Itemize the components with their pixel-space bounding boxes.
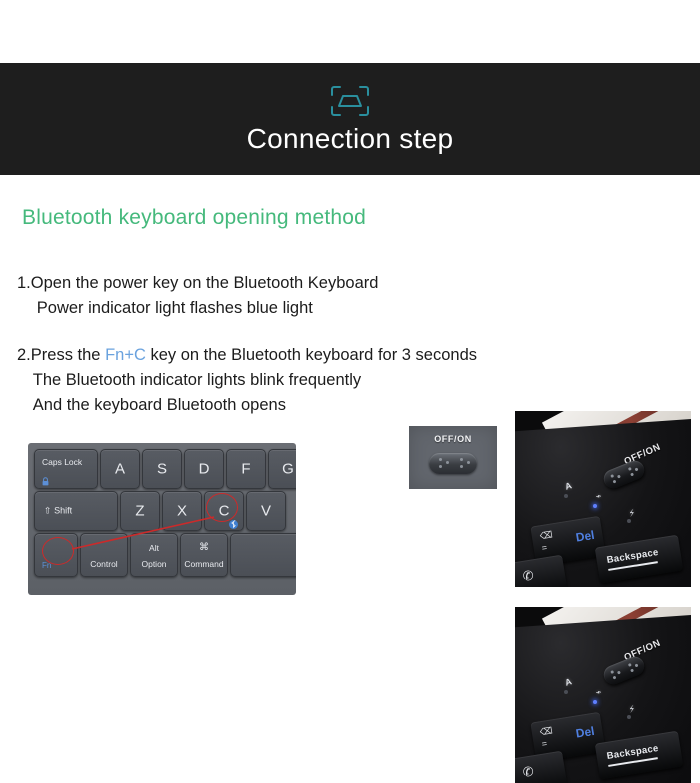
section-heading: Bluetooth keyboard opening method xyxy=(22,206,366,230)
keyboard-diagram: Caps Lock A S D F G ⇧ Shift xyxy=(28,443,296,595)
diagram-key-control: Control xyxy=(80,533,128,577)
key-label-command: Command xyxy=(184,559,223,569)
key-label-v: V xyxy=(261,503,271,520)
diagram-key-a: A xyxy=(100,449,140,489)
key-label-caps-lock: Caps Lock xyxy=(42,457,82,467)
diagram-key-x: X xyxy=(162,491,202,531)
diagram-key-v: V xyxy=(246,491,286,531)
key-label-d: D xyxy=(199,461,210,478)
key-label-a: A xyxy=(115,461,125,478)
diagram-key-space xyxy=(230,533,296,577)
diagram-key-g: G xyxy=(268,449,296,489)
header-band: Connection step xyxy=(0,63,700,175)
key-label-fn: Fn xyxy=(42,561,51,570)
step-item-2: 2. Press the Fn+C key on the Bluetooth k… xyxy=(17,343,537,418)
step-text: Press the Fn+C key on the Bluetooth keyb… xyxy=(31,343,477,418)
step-line-prefix: Press the xyxy=(31,346,105,364)
lock-icon xyxy=(42,473,49,482)
key-label-alt: Alt xyxy=(149,543,159,553)
step-text: Open the power key on the Bluetooth Keyb… xyxy=(31,271,379,321)
bluetooth-icon xyxy=(229,516,238,525)
offon-label: OFF/ON xyxy=(434,434,472,444)
diagram-key-caps-lock: Caps Lock xyxy=(34,449,98,489)
diagram-key-f: F xyxy=(226,449,266,489)
key-label-del: Del xyxy=(575,724,596,741)
diagram-key-s: S xyxy=(142,449,182,489)
step-line: Open the power key on the Bluetooth Keyb… xyxy=(31,271,379,296)
caps-indicator-led xyxy=(564,494,568,498)
steps-list: 1. Open the power key on the Bluetooth K… xyxy=(17,271,537,418)
key-label-z: Z xyxy=(135,503,144,520)
command-symbol-icon: ⌘ xyxy=(199,542,209,553)
step-line-combo: Press the Fn+C key on the Bluetooth keyb… xyxy=(31,343,477,368)
key-label-s: S xyxy=(157,461,167,478)
key-combo-label: Fn+C xyxy=(105,346,146,364)
product-info-page: Connection step Bluetooth keyboard openi… xyxy=(0,0,700,700)
keyboard-photo-top: OFF/ON A ⌁ ⚡ Del ⌫ = Backspace ✆ xyxy=(515,411,691,587)
keyboard-bracket-icon xyxy=(329,84,371,118)
diagram-key-shift: ⇧ Shift xyxy=(34,491,118,531)
step-item-1: 1. Open the power key on the Bluetooth K… xyxy=(17,271,537,321)
key-label-del: Del xyxy=(575,528,596,545)
key-label-c: C xyxy=(219,503,230,520)
key-label-f: F xyxy=(241,461,250,478)
offon-switch-inset: OFF/ON xyxy=(409,426,497,489)
content-area: Bluetooth keyboard opening method 1. Ope… xyxy=(0,175,700,700)
page-title: Connection step xyxy=(247,124,454,155)
diagram-key-d: D xyxy=(184,449,224,489)
diagram-key-fn: Fn xyxy=(34,533,78,577)
key-label-control: Control xyxy=(90,559,117,569)
keyboard-photo-bottom: OFF/ON A ⌁ ⚡ Del ⌫ = Backspace ✆ xyxy=(515,607,691,783)
diagram-key-alt-option: Alt Option xyxy=(130,533,178,577)
key-label-shift: ⇧ Shift xyxy=(44,506,72,517)
diagram-key-command: ⌘ Command xyxy=(180,533,228,577)
step-number: 1. xyxy=(17,271,31,296)
step-line: And the keyboard Bluetooth opens xyxy=(31,393,477,418)
diagram-key-c: C xyxy=(204,491,244,531)
diagram-key-z: Z xyxy=(120,491,160,531)
battery-indicator-led xyxy=(627,715,631,719)
key-label-g: G xyxy=(282,461,294,478)
key-label-option: Option xyxy=(141,559,166,569)
caps-indicator-led xyxy=(564,690,568,694)
step-line-suffix: key on the Bluetooth keyboard for 3 seco… xyxy=(146,346,477,364)
step-line: The Bluetooth indicator lights blink fre… xyxy=(31,368,477,393)
bluetooth-indicator-led xyxy=(593,504,597,508)
step-number: 2. xyxy=(17,343,31,368)
step-line: Power indicator light flashes blue light xyxy=(31,296,379,321)
shift-arrow-icon: ⇧ xyxy=(44,506,52,516)
key-label-x: X xyxy=(177,503,187,520)
power-switch-graphic xyxy=(429,453,477,474)
battery-indicator-led xyxy=(627,519,631,523)
bluetooth-indicator-led xyxy=(593,700,597,704)
